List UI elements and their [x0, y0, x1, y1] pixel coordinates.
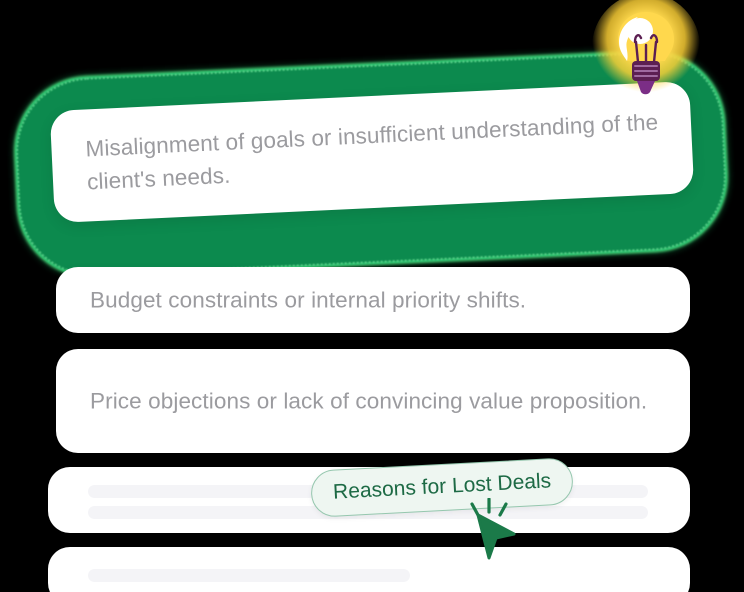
- reason-card-price[interactable]: Price objections or lack of convincing v…: [56, 349, 690, 453]
- bulb-highlight-dot: [627, 18, 653, 44]
- reason-card-placeholder-2[interactable]: [48, 547, 690, 592]
- illustration-canvas: Misalignment of goals or insufficient un…: [0, 0, 744, 592]
- reason-card-text: Price objections or lack of convincing v…: [90, 385, 660, 418]
- skeleton-line: [88, 569, 410, 582]
- reason-card-text: Misalignment of goals or insufficient un…: [85, 105, 663, 198]
- reason-card-budget[interactable]: Budget constraints or internal priority …: [56, 267, 690, 333]
- reason-card-text: Budget constraints or internal priority …: [90, 284, 660, 317]
